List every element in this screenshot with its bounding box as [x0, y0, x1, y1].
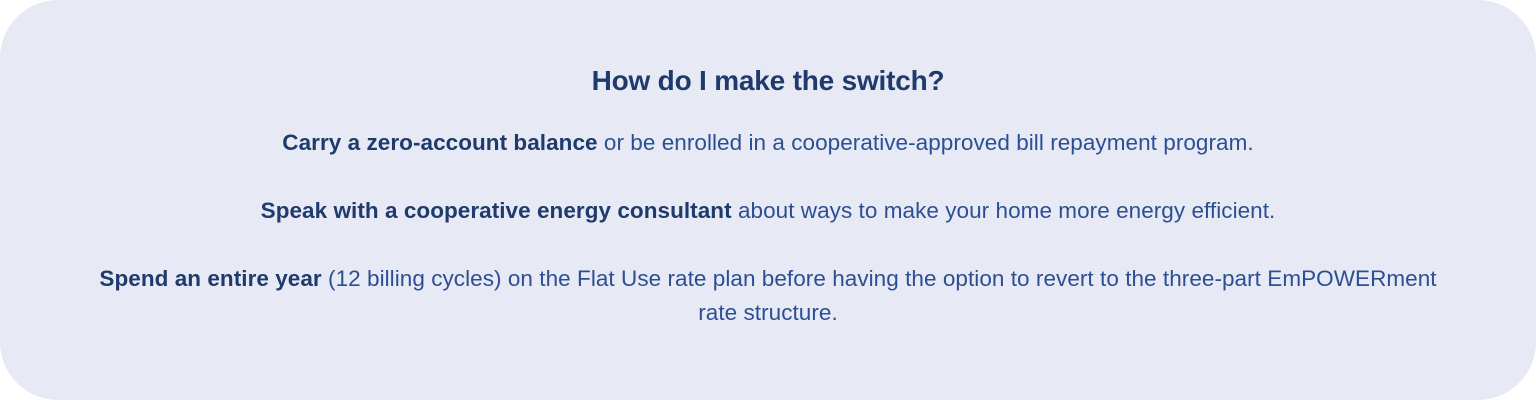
requirement-rest: or be enrolled in a cooperative-approved…: [598, 130, 1254, 155]
info-panel: How do I make the switch? Carry a zero-a…: [0, 0, 1536, 400]
requirement-rest: about ways to make your home more energy…: [732, 198, 1276, 223]
requirement-lead: Carry a zero-account balance: [282, 130, 597, 155]
requirement-item: Speak with a cooperative energy consulta…: [96, 194, 1440, 228]
requirements-list: Carry a zero-account balance or be enrol…: [96, 126, 1440, 330]
requirement-rest: (12 billing cycles) on the Flat Use rate…: [322, 266, 1437, 325]
requirement-item: Carry a zero-account balance or be enrol…: [96, 126, 1440, 160]
panel-content: How do I make the switch? Carry a zero-a…: [0, 0, 1536, 400]
requirement-lead: Speak with a cooperative energy consulta…: [261, 198, 732, 223]
page-title: How do I make the switch?: [0, 64, 1536, 98]
requirement-lead: Spend an entire year: [99, 266, 321, 291]
requirement-item: Spend an entire year (12 billing cycles)…: [96, 262, 1440, 330]
